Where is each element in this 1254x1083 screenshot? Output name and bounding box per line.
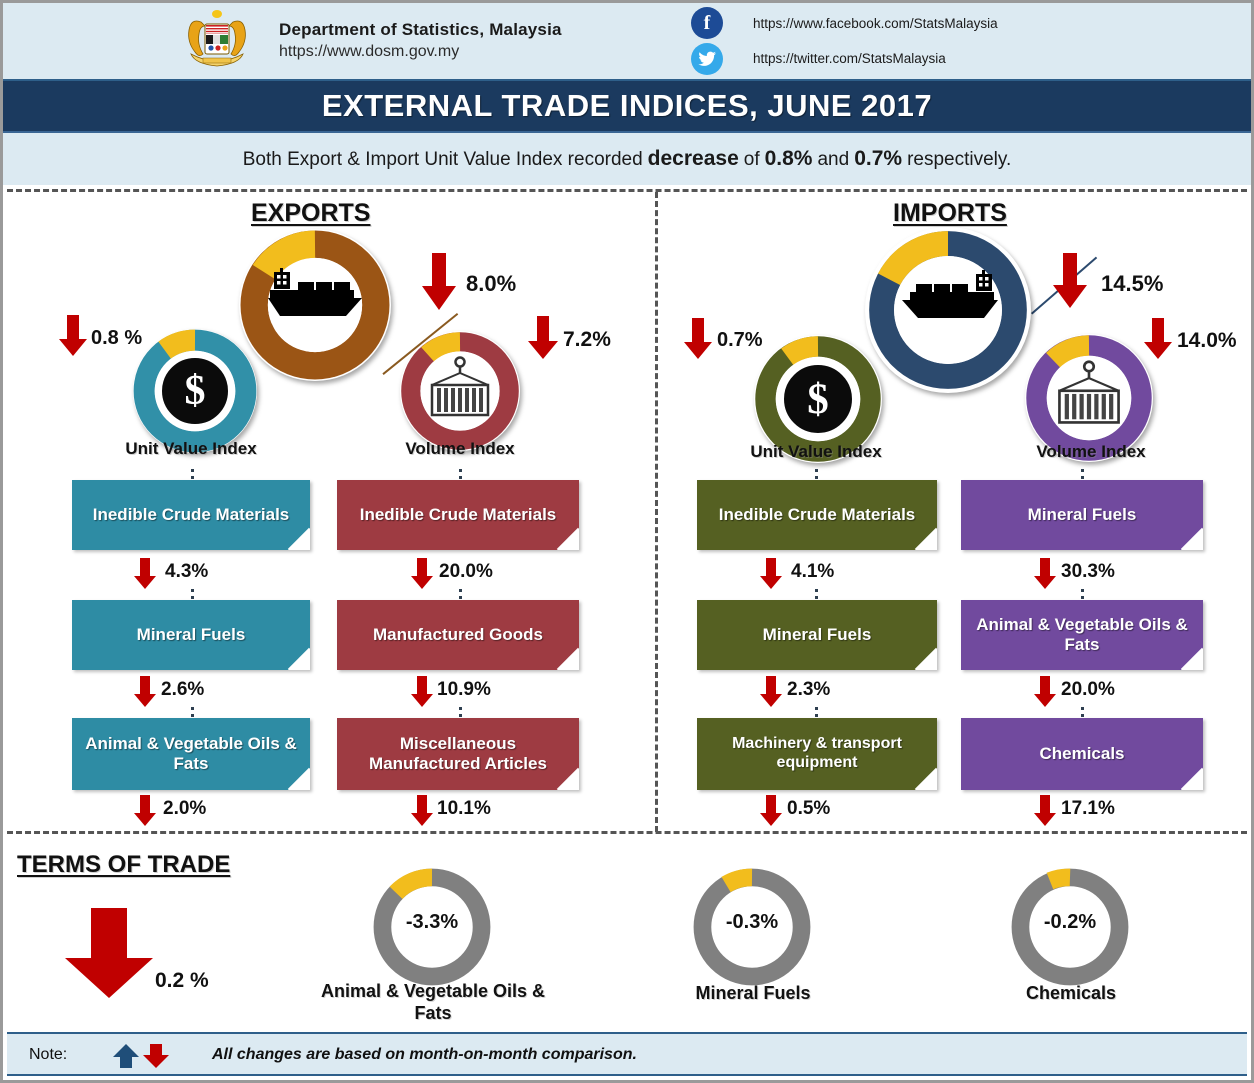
imports-shipping-container-icon [1051, 357, 1127, 433]
imports-uvi-item-1-label: Inedible Crude Materials [719, 505, 916, 525]
exports-shipping-container-icon [424, 353, 496, 425]
exports-volume-item-3[interactable]: Miscellaneous Manufactured Articles [337, 718, 579, 790]
exports-uvi-label: Unit Value Index [71, 439, 311, 459]
exports-volume-tick-1 [459, 469, 462, 479]
imports-volume-item-2-arrow-icon [1034, 676, 1056, 713]
imports-volume-tick-3 [1081, 707, 1084, 717]
exports-uvi-item-3-pct: 2.0% [163, 798, 206, 820]
exports-uvi-item-1[interactable]: Inedible Crude Materials [72, 480, 310, 550]
imports-total-trade-arrow-down-icon [1052, 253, 1088, 314]
imports-uvi-item-1-arrow-icon [760, 558, 782, 595]
imports-uvi-item-2[interactable]: Mineral Fuels [697, 600, 937, 670]
exports-volume-item-3-arrow-icon [411, 795, 433, 832]
exports-uvi-tick-1 [191, 469, 194, 479]
imports-uvi-tick-1 [815, 469, 818, 479]
tot-donut-1-value: -3.3% [365, 911, 499, 934]
imports-volume-item-3-label: Chemicals [1039, 744, 1124, 764]
imports-uvi-pct: 0.7% [717, 329, 763, 352]
imports-dollar-coin-icon: $ [780, 361, 856, 437]
twitter-icon[interactable] [691, 43, 723, 75]
exports-uvi-item-1-pct: 4.3% [165, 561, 208, 583]
imports-volume-item-3[interactable]: Chemicals [961, 718, 1203, 790]
imports-volume-item-1[interactable]: Mineral Fuels [961, 480, 1203, 550]
exports-volume-item-2-pct: 10.9% [437, 679, 491, 701]
exports-volume-arrow-down-icon [528, 316, 558, 365]
terms-of-trade-arrow-down-icon [63, 908, 155, 1005]
exports-uvi-item-2[interactable]: Mineral Fuels [72, 600, 310, 670]
exports-uvi-item-3-arrow-icon [134, 795, 156, 832]
subtitle-text: Both Export & Import Unit Value Index re… [243, 147, 1012, 171]
imports-volume-arrow-down-icon [1144, 318, 1172, 365]
exports-volume-item-3-label: Miscellaneous Manufactured Articles [345, 734, 571, 774]
subtitle-emph-import-pct: 0.7% [854, 147, 902, 170]
tot-donut-3-value: -0.2% [1003, 911, 1137, 934]
subtitle-emph-decrease: decrease [648, 147, 739, 170]
tot-donut-3-label: Chemicals [983, 983, 1159, 1005]
exports-uvi-item-1-label: Inedible Crude Materials [93, 505, 290, 525]
imports-volume-pct: 14.0% [1177, 329, 1237, 353]
exports-uvi-item-3[interactable]: Animal & Vegetable Oils & Fats [72, 718, 310, 790]
department-name: Department of Statistics, Malaysia [279, 20, 562, 40]
exports-volume-item-2-label: Manufactured Goods [373, 625, 543, 645]
page-title: EXTERNAL TRADE INDICES, JUNE 2017 [322, 88, 932, 124]
exports-volume-tick-3 [459, 707, 462, 717]
imports-volume-item-2-pct: 20.0% [1061, 679, 1115, 701]
exports-uvi-tick-3 [191, 707, 194, 717]
subtitle-part4: respectively. [907, 149, 1011, 170]
exports-uvi-item-2-label: Mineral Fuels [137, 625, 246, 645]
panel-divider [655, 192, 658, 832]
exports-uvi-item-2-arrow-icon [134, 676, 156, 713]
exports-volume-item-1[interactable]: Inedible Crude Materials [337, 480, 579, 550]
exports-cargo-ship-icon [266, 268, 364, 330]
subtitle-part2: of [744, 149, 760, 170]
exports-total-trade-arrow-down-icon [421, 253, 457, 316]
infographic-page: Department of Statistics, Malaysia https… [0, 0, 1254, 1083]
imports-volume-tick-2 [1081, 589, 1084, 599]
imports-volume-item-1-pct: 30.3% [1061, 561, 1115, 583]
subtitle-part1: Both Export & Import Unit Value Index re… [243, 149, 643, 170]
imports-uvi-tick-2 [815, 589, 818, 599]
imports-volume-item-2-label: Animal & Vegetable Oils & Fats [969, 615, 1195, 655]
title-band: EXTERNAL TRADE INDICES, JUNE 2017 [3, 81, 1251, 133]
exports-uvi-arrow-down-icon [59, 315, 87, 362]
imports-volume-item-3-arrow-icon [1034, 795, 1056, 832]
arrow-down-icon [142, 1042, 170, 1070]
imports-uvi-tick-3 [815, 707, 818, 717]
exports-dollar-coin-icon: $ [158, 354, 232, 428]
exports-volume-item-1-arrow-icon [411, 558, 433, 595]
imports-uvi-item-3-label: Machinery & transport equipment [705, 735, 929, 773]
exports-volume-item-2[interactable]: Manufactured Goods [337, 600, 579, 670]
header-band: Department of Statistics, Malaysia https… [3, 3, 1251, 81]
subtitle-part3: and [817, 149, 849, 170]
imports-uvi-item-3-arrow-icon [760, 795, 782, 832]
imports-uvi-arrow-down-icon [684, 318, 712, 365]
exports-uvi-item-1-arrow-icon [134, 558, 156, 595]
imports-uvi-label: Unit Value Index [696, 442, 936, 462]
imports-volume-item-1-label: Mineral Fuels [1028, 505, 1137, 525]
tot-donut-1-label: Animal & Vegetable Oils & Fats [309, 981, 557, 1024]
imports-volume-label: Volume Index [971, 442, 1211, 462]
arrow-up-icon [112, 1042, 140, 1070]
department-url[interactable]: https://www.dosm.gov.my [279, 43, 459, 61]
imports-uvi-item-2-arrow-icon [760, 676, 782, 713]
subtitle-emph-export-pct: 0.8% [765, 147, 813, 170]
imports-uvi-item-2-pct: 2.3% [787, 679, 830, 701]
imports-uvi-item-1-pct: 4.1% [791, 561, 834, 583]
exports-heading: EXPORTS [251, 199, 370, 228]
twitter-bird-glyph [697, 51, 717, 68]
exports-volume-tick-2 [459, 589, 462, 599]
note-label: Note: [29, 1046, 67, 1064]
facebook-icon[interactable]: f [691, 7, 723, 39]
tot-donut-2-value: -0.3% [685, 911, 819, 934]
exports-volume-item-3-pct: 10.1% [437, 798, 491, 820]
exports-uvi-pct: 0.8 % [91, 327, 142, 350]
imports-uvi-item-1[interactable]: Inedible Crude Materials [697, 480, 937, 550]
note-text: All changes are based on month-on-month … [212, 1046, 637, 1064]
terms-of-trade-main-pct: 0.2 % [155, 969, 209, 993]
twitter-url[interactable]: https://twitter.com/StatsMalaysia [753, 51, 946, 66]
imports-volume-item-3-pct: 17.1% [1061, 798, 1115, 820]
tot-donut-2-label: Mineral Fuels [665, 983, 841, 1005]
imports-uvi-item-3-pct: 0.5% [787, 798, 830, 820]
terms-of-trade-heading: TERMS OF TRADE [17, 851, 230, 879]
exports-uvi-tick-2 [191, 589, 194, 599]
imports-total-trade-pct: 14.5% [1101, 271, 1163, 297]
imports-volume-item-1-arrow-icon [1034, 558, 1056, 595]
exports-volume-item-2-arrow-icon [411, 676, 433, 713]
imports-cargo-ship-icon [892, 270, 1000, 332]
subtitle-band: Both Export & Import Unit Value Index re… [3, 133, 1251, 185]
exports-volume-pct: 7.2% [563, 328, 611, 352]
malaysia-coat-of-arms-emblem [181, 8, 253, 74]
exports-uvi-item-2-pct: 2.6% [161, 679, 204, 701]
facebook-url[interactable]: https://www.facebook.com/StatsMalaysia [753, 16, 998, 31]
imports-heading: IMPORTS [893, 199, 1007, 228]
imports-uvi-item-2-label: Mineral Fuels [763, 625, 872, 645]
exports-volume-item-1-pct: 20.0% [439, 561, 493, 583]
exports-total-trade-pct: 8.0% [466, 271, 516, 297]
exports-uvi-item-3-label: Animal & Vegetable Oils & Fats [80, 734, 302, 774]
imports-uvi-item-3[interactable]: Machinery & transport equipment [697, 718, 937, 790]
imports-volume-item-2[interactable]: Animal & Vegetable Oils & Fats [961, 600, 1203, 670]
exports-volume-label: Volume Index [340, 439, 580, 459]
exports-volume-item-1-label: Inedible Crude Materials [360, 505, 557, 525]
imports-volume-tick-1 [1081, 469, 1084, 479]
note-band: Note: All changes are based on month-on-… [7, 1032, 1247, 1076]
